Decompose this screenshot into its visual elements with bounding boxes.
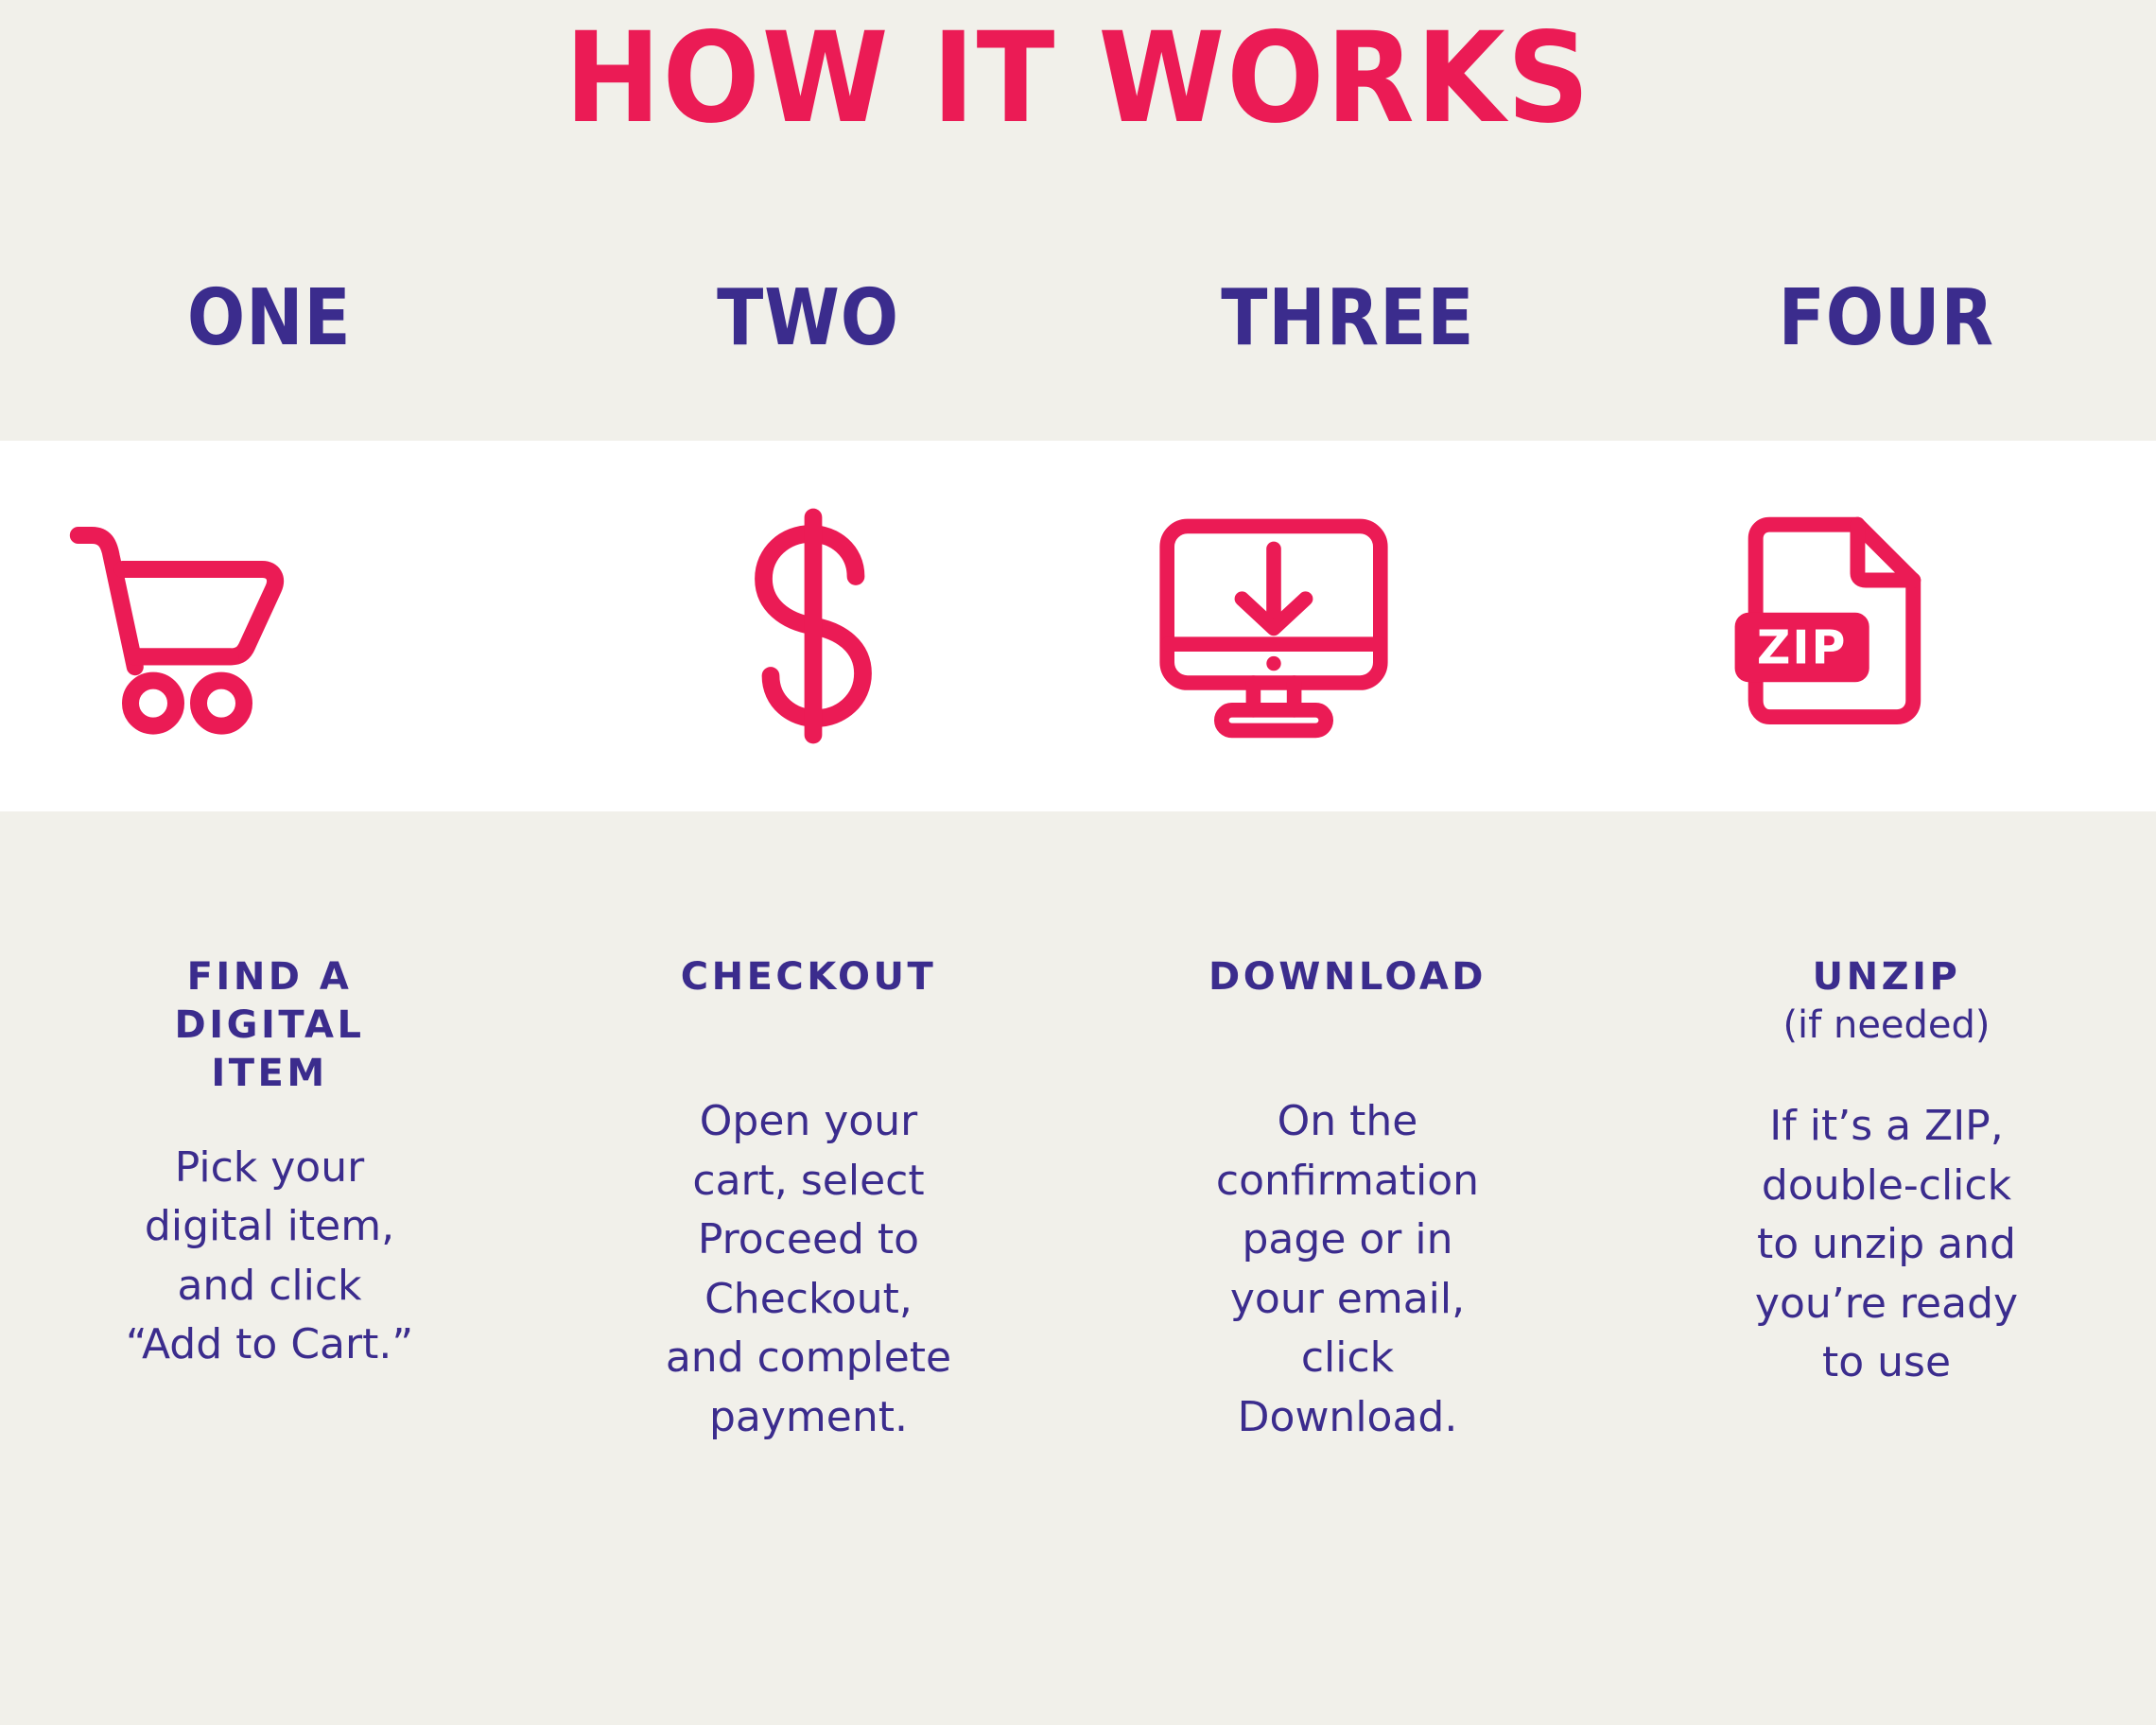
step-body-one: Pick your digital item, and click “Add t… <box>28 1099 511 1375</box>
icon-cell-four: ZIP <box>1617 511 2156 742</box>
step-card-two: CHECKOUT Open your cart, select Proceed … <box>539 811 1078 1447</box>
monitor-download-icon <box>1156 513 1392 740</box>
step-number-three: THREE <box>1221 280 1474 357</box>
step-number-one: ONE <box>187 280 352 357</box>
dollar-sign-icon <box>719 508 908 744</box>
step-number-cell-two: TWO <box>539 280 1078 357</box>
step-subheading-four: (if needed) <box>1645 1002 2128 1050</box>
step-heading-one: FIND A DIGITAL ITEM <box>28 811 511 1099</box>
icon-cell-three <box>1078 513 1617 740</box>
icon-cell-two <box>539 508 1078 744</box>
icon-band: ZIP <box>0 441 2156 811</box>
step-body-four: If it’s a ZIP, double-click to unzip and… <box>1645 1050 2128 1392</box>
step-card-four: UNZIP (if needed) If it’s a ZIP, double-… <box>1617 811 2156 1447</box>
shopping-cart-icon <box>62 513 289 740</box>
step-card-one: FIND A DIGITAL ITEM Pick your digital it… <box>0 811 539 1447</box>
page-title: HOW IT WORKS <box>86 13 2070 145</box>
step-number-two: TWO <box>718 280 900 357</box>
icon-row: ZIP <box>0 441 2156 811</box>
step-number-cell-one: ONE <box>0 280 539 357</box>
step-number-row: ONE TWO THREE FOUR <box>0 280 2156 357</box>
icon-cell-one <box>0 513 539 740</box>
step-heading-three: DOWNLOAD <box>1106 811 1589 1002</box>
step-number-cell-three: THREE <box>1078 280 1617 357</box>
step-body-two: Open your cart, select Proceed to Checko… <box>567 1002 1050 1447</box>
zip-badge-label: ZIP <box>1757 620 1848 674</box>
step-body-three: On the confirmation page or in your emai… <box>1106 1002 1589 1447</box>
caption-row: FIND A DIGITAL ITEM Pick your digital it… <box>0 811 2156 1447</box>
step-heading-four: UNZIP <box>1645 811 2128 1002</box>
step-card-three: DOWNLOAD On the confirmation page or in … <box>1078 811 1617 1447</box>
step-number-cell-four: FOUR <box>1617 280 2156 357</box>
step-heading-two: CHECKOUT <box>567 811 1050 1002</box>
step-number-four: FOUR <box>1779 280 1994 357</box>
zip-file-icon: ZIP <box>1730 511 1934 742</box>
header: HOW IT WORKS <box>0 0 2156 145</box>
